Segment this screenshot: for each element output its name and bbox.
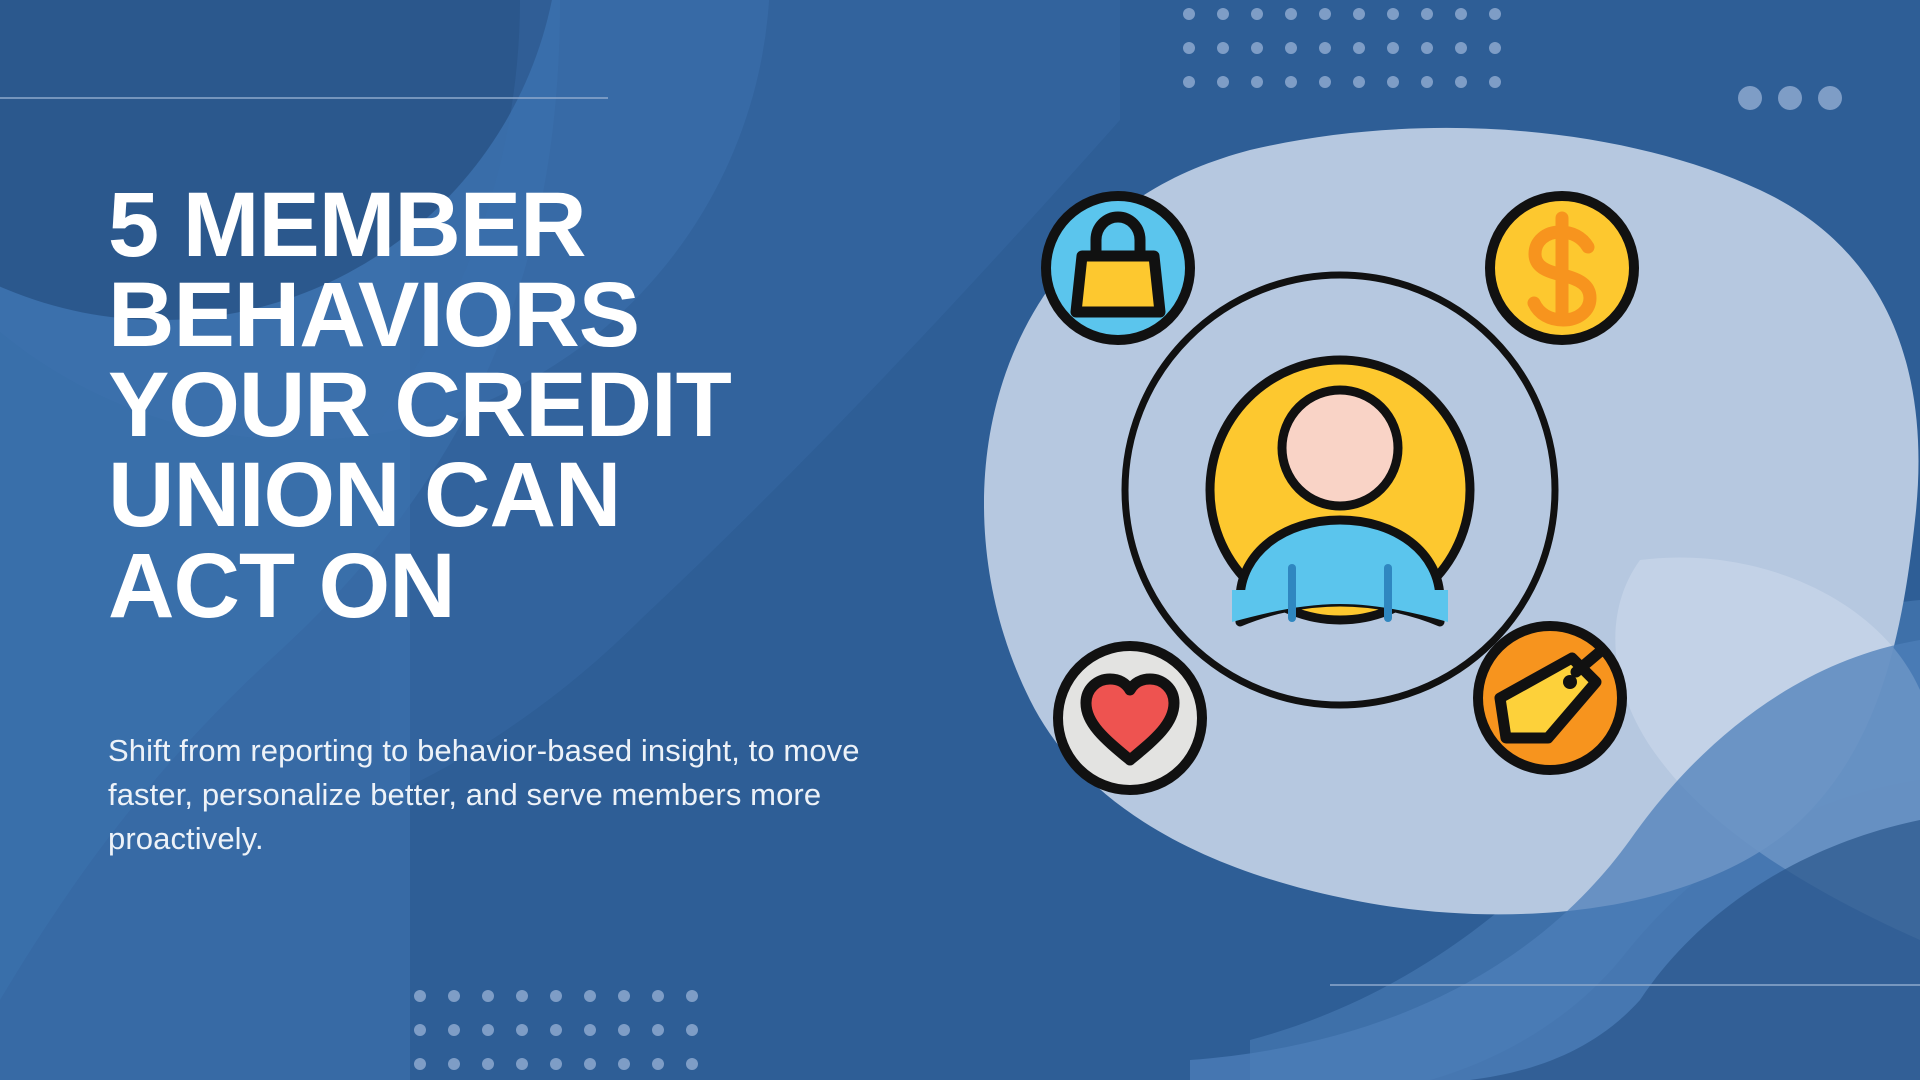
- text-column: 5 MEMBER BEHAVIORS YOUR CREDIT UNION CAN…: [108, 180, 918, 861]
- page-title: 5 MEMBER BEHAVIORS YOUR CREDIT UNION CAN…: [108, 180, 918, 631]
- dot-1: [1738, 86, 1762, 110]
- rule-bottom-right: [1330, 984, 1920, 986]
- illustration-blob-accent: [1615, 558, 1920, 940]
- bag-body: [1076, 256, 1160, 312]
- bottom-right-wave-dark: [1430, 780, 1920, 1080]
- slide-canvas: 5 MEMBER BEHAVIORS YOUR CREDIT UNION CAN…: [0, 0, 1920, 1080]
- member-behavior-diagram: [1020, 170, 1660, 810]
- price-tag-icon: [1478, 626, 1622, 770]
- dot-grid-bottom-left: [414, 990, 704, 1080]
- rule-top-left: [0, 97, 608, 99]
- dot-3: [1818, 86, 1842, 110]
- dot-grid-top-right: [1183, 8, 1503, 100]
- wave-over-blob-dark: [1470, 820, 1920, 1080]
- avatar-head: [1282, 390, 1398, 506]
- dot-trio-top-right: [1738, 86, 1842, 110]
- subtitle-text: Shift from reporting to behavior-based i…: [108, 729, 918, 861]
- shopping-bag-icon: [1046, 196, 1190, 340]
- dot-2: [1778, 86, 1802, 110]
- dollar-coin-icon: [1490, 196, 1634, 340]
- person-avatar-icon: [1210, 360, 1470, 622]
- heart-icon: [1058, 646, 1202, 790]
